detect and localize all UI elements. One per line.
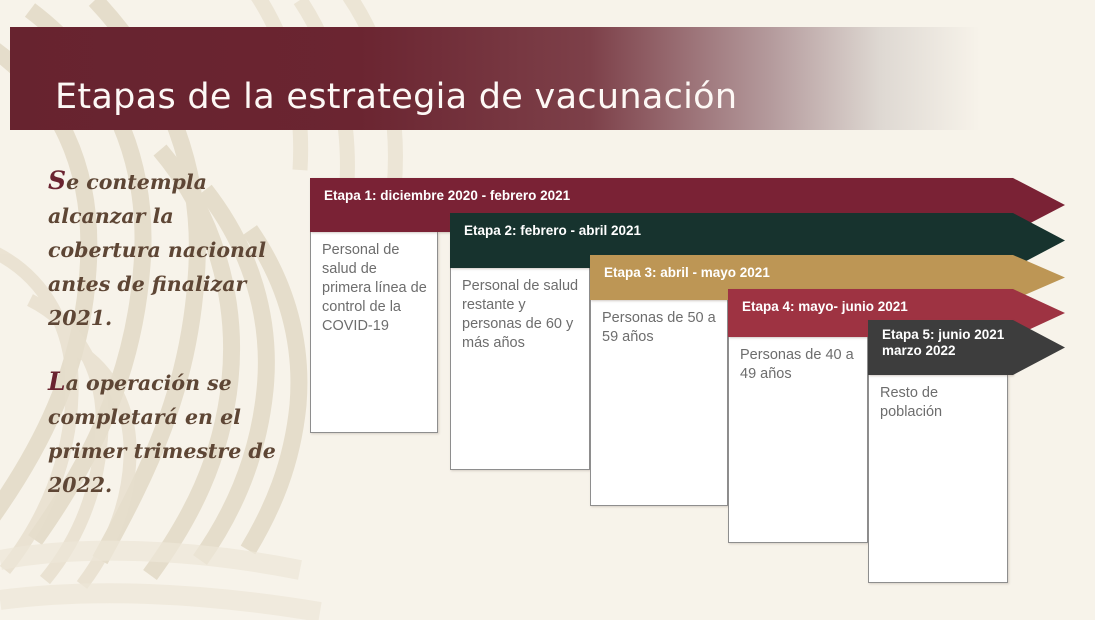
stage-2-description-box: Personal de salud restante y personas de… (450, 268, 590, 470)
stage-5[interactable]: Etapa 5: junio 2021 marzo 2022 Resto de … (868, 320, 1013, 583)
stage-3-description-box: Personas de 50 a 59 años (590, 300, 728, 506)
narrative-paragraph-1: Se contempla alcanzar la cobertura nacio… (48, 164, 293, 335)
stage-5-description: Resto de población (880, 385, 942, 420)
narrative-text: Se contempla alcanzar la cobertura nacio… (48, 164, 293, 532)
stage-4-label: Etapa 4: mayo- junio 2021 (742, 299, 908, 314)
stage-1-description-box: Personal de salud de primera línea de co… (310, 232, 438, 433)
stage-2-description: Personal de salud restante y personas de… (462, 278, 578, 351)
narrative-body-2: a operación se completará en el primer t… (48, 371, 276, 497)
narrative-body-1: e contempla alcanzar la cobertura nacion… (48, 170, 266, 330)
narrative-paragraph-2: La operación se completará en el primer … (48, 365, 293, 502)
stage-4-description-box: Personas de 40 a 49 años (728, 337, 868, 543)
stage-3-label: Etapa 3: abril - mayo 2021 (604, 265, 770, 280)
arrowhead-icon (1013, 320, 1065, 375)
dropcap-1: S (48, 166, 66, 195)
stage-2-label: Etapa 2: febrero - abril 2021 (464, 223, 641, 238)
dropcap-2: L (48, 367, 66, 396)
stage-5-label: Etapa 5: junio 2021 marzo 2022 (882, 327, 1004, 358)
stage-5-description-box: Resto de población (868, 375, 1008, 583)
stage-1-label: Etapa 1: diciembre 2020 - febrero 2021 (324, 188, 570, 203)
stage-4-description: Personas de 40 a 49 años (740, 347, 854, 382)
slide-canvas: Etapas de la estrategia de vacunación Se… (0, 0, 1095, 620)
stage-1-description: Personal de salud de primera línea de co… (322, 242, 427, 334)
slide-title-bar: Etapas de la estrategia de vacunación (10, 27, 1010, 130)
stage-3-description: Personas de 50 a 59 años (602, 310, 716, 345)
page-title: Etapas de la estrategia de vacunación (55, 77, 737, 117)
stage-5-banner: Etapa 5: junio 2021 marzo 2022 (868, 320, 1013, 375)
